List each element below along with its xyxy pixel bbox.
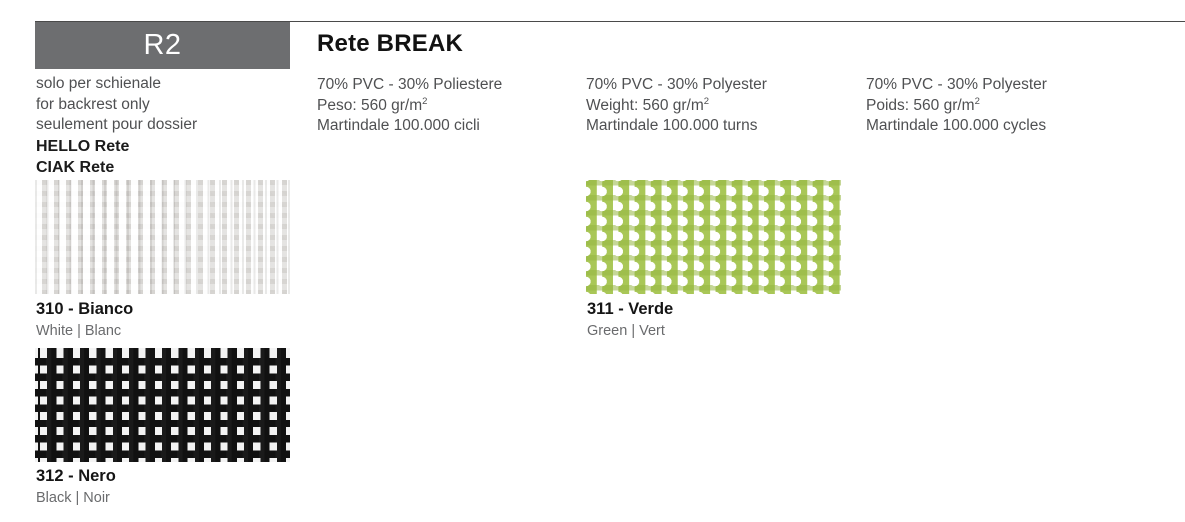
spec-weight-unit-it: 2 bbox=[422, 95, 427, 106]
family-notes: solo per schienale for backrest only seu… bbox=[36, 74, 336, 178]
spec-column-en: 70% PVC - 30% Polyester Weight: 560 gr/m… bbox=[586, 75, 886, 137]
swatch-name-310: 310 - Bianco bbox=[36, 299, 366, 320]
spec-martindale-fr: Martindale 100.000 cycles bbox=[866, 116, 1166, 137]
spec-weight-label-en: Weight: bbox=[586, 97, 638, 114]
family-note-it: solo per schienale bbox=[36, 74, 336, 95]
fabric-mesh-holes-312 bbox=[35, 348, 290, 462]
swatch-translations-312: Black | Noir bbox=[36, 489, 366, 508]
product-title: Rete BREAK bbox=[317, 32, 463, 56]
fabric-mesh-holes-311 bbox=[586, 180, 841, 294]
family-code-label: R2 bbox=[143, 31, 181, 60]
spec-composition-en: 70% PVC - 30% Polyester bbox=[586, 75, 886, 96]
fabric-swatch-311[interactable] bbox=[586, 180, 841, 294]
fabric-swatch-312[interactable] bbox=[35, 348, 290, 462]
family-code-bar: R2 bbox=[35, 22, 290, 69]
family-model-hello: HELLO Rete bbox=[36, 136, 336, 157]
spec-martindale-it: Martindale 100.000 cicli bbox=[317, 116, 617, 137]
spec-weight-en: Weight: 560 gr/m2 bbox=[586, 96, 886, 117]
fabric-texture-310 bbox=[35, 180, 290, 294]
family-note-fr: seulement pour dossier bbox=[36, 115, 336, 136]
spec-column-it: 70% PVC - 30% Poliestere Peso: 560 gr/m2… bbox=[317, 75, 617, 137]
spec-weight-unit-fr: 2 bbox=[975, 95, 980, 106]
spec-weight-fr: Poids: 560 gr/m2 bbox=[866, 96, 1166, 117]
family-model-ciak: CIAK Rete bbox=[36, 157, 336, 178]
fabric-catalogue-page: R2 solo per schienale for backrest only … bbox=[0, 0, 1185, 522]
spec-weight-value-en: 560 gr/m bbox=[643, 97, 704, 114]
spec-column-fr: 70% PVC - 30% Polyester Poids: 560 gr/m2… bbox=[866, 75, 1166, 137]
fabric-swatch-310[interactable] bbox=[35, 180, 290, 294]
swatch-translations-311: Green | Vert bbox=[587, 322, 917, 341]
swatch-caption-312: 312 - Nero Black | Noir bbox=[36, 466, 366, 508]
swatch-name-312: 312 - Nero bbox=[36, 466, 366, 487]
family-note-en: for backrest only bbox=[36, 95, 336, 116]
swatch-translations-310: White | Blanc bbox=[36, 322, 366, 341]
spec-weight-value-fr: 560 gr/m bbox=[913, 97, 974, 114]
spec-composition-fr: 70% PVC - 30% Polyester bbox=[866, 75, 1166, 96]
swatch-caption-310: 310 - Bianco White | Blanc bbox=[36, 299, 366, 341]
spec-weight-unit-en: 2 bbox=[704, 95, 709, 106]
spec-weight-label-it: Peso: bbox=[317, 97, 357, 114]
spec-martindale-en: Martindale 100.000 turns bbox=[586, 116, 886, 137]
spec-weight-label-fr: Poids: bbox=[866, 97, 909, 114]
spec-weight-value-it: 560 gr/m bbox=[361, 97, 422, 114]
spec-weight-it: Peso: 560 gr/m2 bbox=[317, 96, 617, 117]
swatch-caption-311: 311 - Verde Green | Vert bbox=[587, 299, 917, 341]
swatch-name-311: 311 - Verde bbox=[587, 299, 917, 320]
spec-composition-it: 70% PVC - 30% Poliestere bbox=[317, 75, 617, 96]
